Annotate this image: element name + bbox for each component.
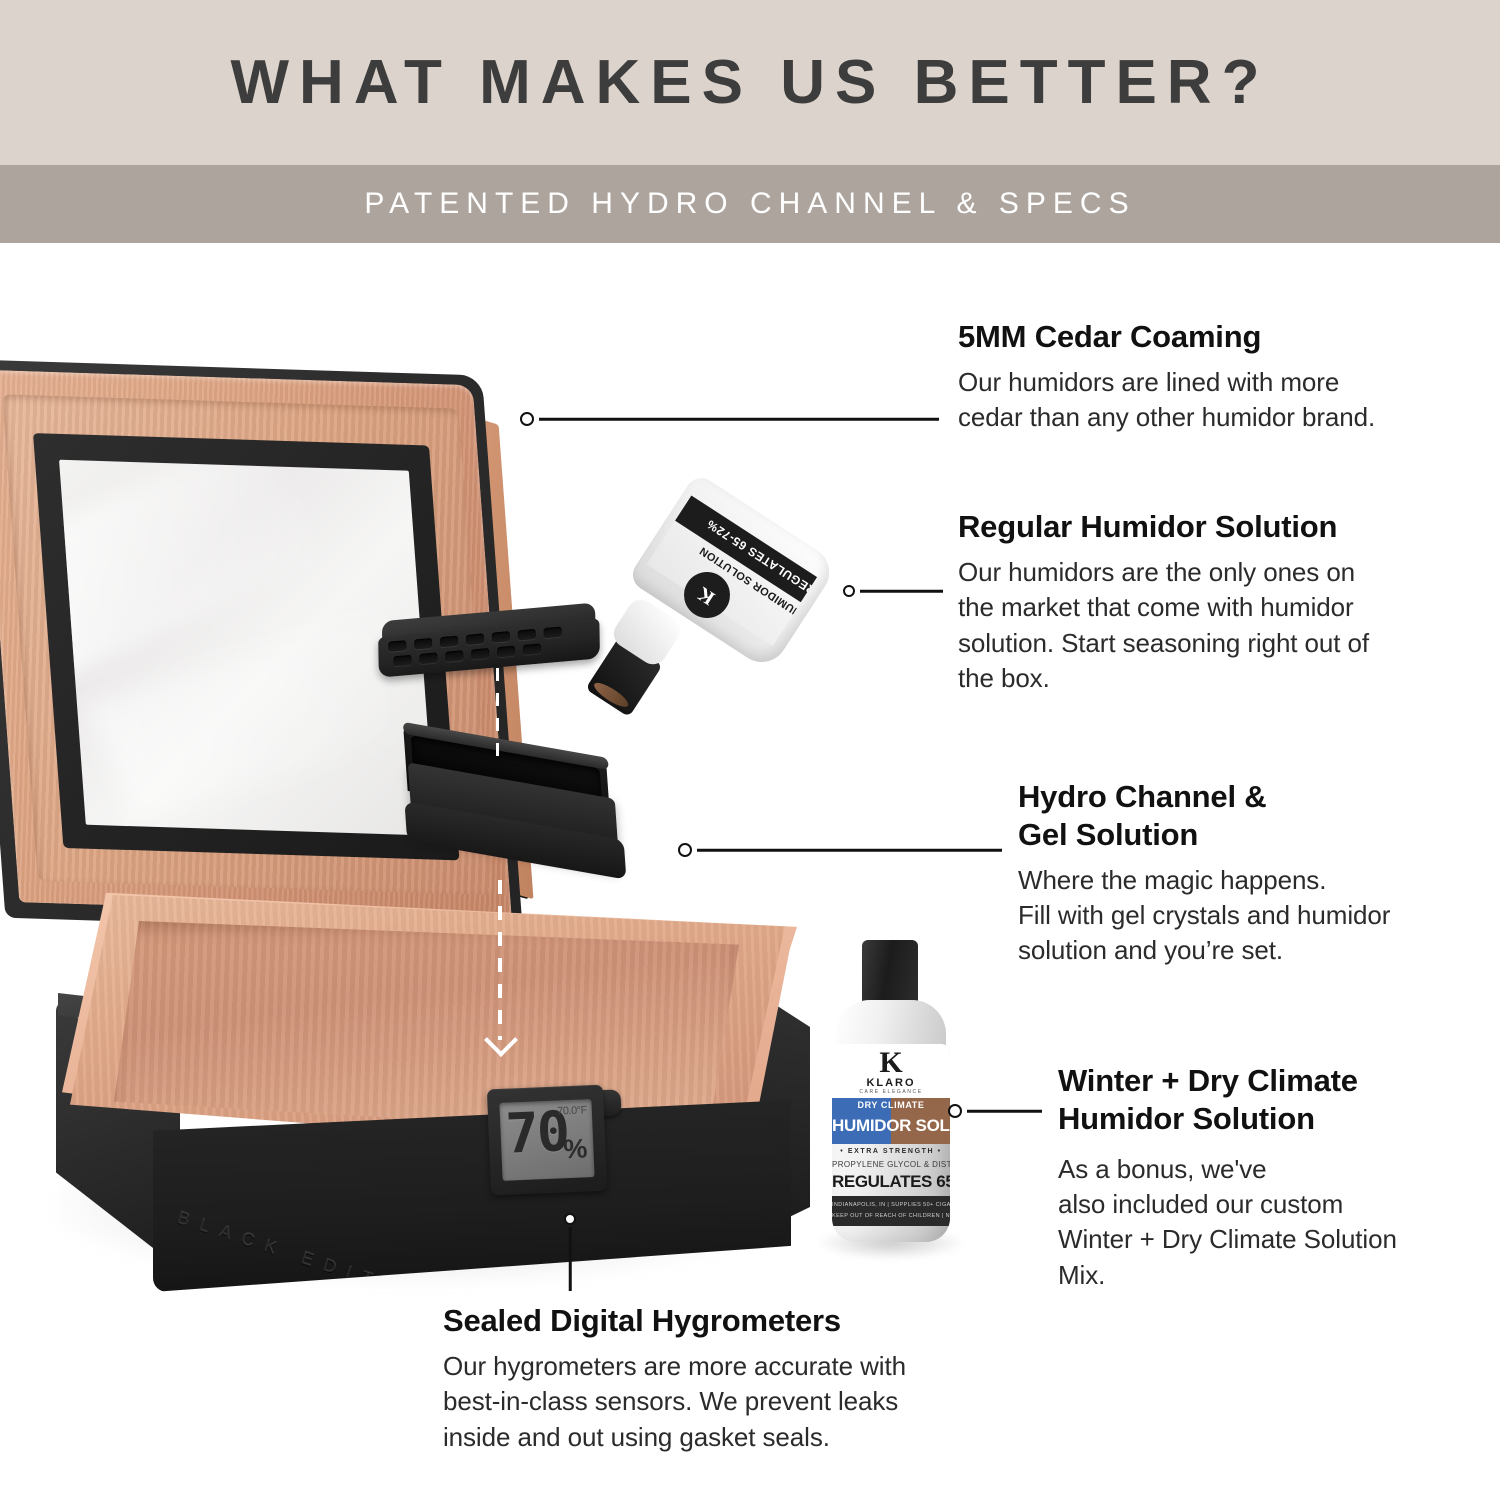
feature-body: Our hygrometers are more accurate with b… bbox=[443, 1349, 1023, 1455]
feature-title-line: Hydro Channel & bbox=[1018, 778, 1488, 816]
regular-humidor-solution-bottle: REGULATES 65-72% HUMIDOR SOLUTION K bbox=[600, 498, 830, 748]
bottle-footer-line2: KEEP OUT OF REACH OF CHILDREN | NOT FOR … bbox=[832, 1213, 950, 1219]
base-cedar-interior bbox=[114, 921, 739, 1136]
feature-block-hydro-channel: Hydro Channel & Gel Solution Where the m… bbox=[1018, 778, 1488, 969]
page-subtitle: PATENTED HYDRO CHANNEL & SPECS bbox=[364, 187, 1135, 221]
feature-block-cedar: 5MM Cedar Coaming Our humidors are lined… bbox=[958, 318, 1478, 436]
feature-body-line: solution and you’re set. bbox=[1018, 933, 1488, 968]
bottle-body: K KLARO CARE ELEGANCE DRY CLIMATE HUMIDO… bbox=[832, 1044, 950, 1242]
connector-line bbox=[539, 418, 939, 421]
feature-block-hygrometers: Sealed Digital Hygrometers Our hygromete… bbox=[443, 1302, 1023, 1455]
bottle-strength-text: • EXTRA STRENGTH • bbox=[832, 1148, 950, 1155]
feature-body-line: As a bonus, we've bbox=[1058, 1152, 1498, 1187]
page-title: WHAT MAKES US BETTER? bbox=[231, 47, 1270, 118]
feature-body: Where the magic happens. Fill with gel c… bbox=[1018, 863, 1488, 969]
connector-dot-icon bbox=[520, 412, 534, 426]
connector-dot-icon bbox=[843, 585, 855, 597]
connector-line bbox=[860, 590, 943, 593]
bottle-ingredients-text: PROPYLENE GLYCOL & DISTILLED WATER bbox=[832, 1160, 950, 1169]
infographic-root: WHAT MAKES US BETTER? PATENTED HYDRO CHA… bbox=[0, 0, 1500, 1500]
digital-hygrometer: 70 70.0°F % bbox=[487, 1085, 607, 1196]
klaro-brand-name: KLARO bbox=[832, 1077, 950, 1089]
feature-title-line: Humidor Solution bbox=[1058, 1100, 1498, 1138]
fill-path-dashes-upper bbox=[496, 668, 499, 768]
bottle-regulates-text: REGULATES 65-72% bbox=[832, 1172, 950, 1192]
klaro-logo-letter: K bbox=[694, 581, 720, 609]
connector-hygrometer bbox=[562, 1213, 578, 1291]
connector-line bbox=[967, 1110, 1042, 1113]
feature-body-line: Mix. bbox=[1058, 1258, 1498, 1293]
fill-direction-arrow-icon bbox=[498, 880, 502, 1040]
feature-body-line: inside and out using gasket seals. bbox=[443, 1420, 1023, 1455]
feature-body: Our humidors are lined with more cedar t… bbox=[958, 365, 1478, 436]
feature-body: Our humidors are the only ones on the ma… bbox=[958, 555, 1478, 696]
connector-dot-icon bbox=[564, 1213, 576, 1225]
feature-title-line: Gel Solution bbox=[1018, 816, 1488, 854]
feature-body-line: the box. bbox=[958, 661, 1478, 696]
header-band-secondary: PATENTED HYDRO CHANNEL & SPECS bbox=[0, 165, 1500, 243]
header-band-primary: WHAT MAKES US BETTER? bbox=[0, 0, 1500, 165]
connector-winter-solution bbox=[948, 1102, 1048, 1120]
feature-body-line: cedar than any other humidor brand. bbox=[958, 400, 1478, 435]
bottle-footer-line1: INDIANAPOLIS, IN | SUPPLIES 50+ CIGARS bbox=[832, 1202, 950, 1208]
connector-hydro-channel bbox=[678, 841, 1008, 859]
feature-block-winter-solution: Winter + Dry Climate Humidor Solution As… bbox=[1058, 1062, 1498, 1293]
base-front-panel: BLACK EDITION bbox=[153, 1100, 791, 1292]
feature-body-line: Our humidors are lined with more bbox=[958, 365, 1478, 400]
feature-body-line: also included our custom bbox=[1058, 1187, 1498, 1222]
klaro-logo-letter: K bbox=[832, 1048, 950, 1078]
klaro-brand-tagline: CARE ELEGANCE bbox=[832, 1089, 950, 1095]
bottle-band-title: HUMIDOR SOLUTION bbox=[832, 1116, 950, 1136]
humidor-base: BLACK EDITION bbox=[48, 895, 808, 1295]
bottle-footer-band bbox=[832, 1196, 950, 1226]
feature-block-regular-solution: Regular Humidor Solution Our humidors ar… bbox=[958, 508, 1478, 696]
feature-body-line: Winter + Dry Climate Solution bbox=[1058, 1222, 1498, 1257]
hydro-channel bbox=[405, 734, 637, 905]
feature-body-line: best-in-class sensors. We prevent leaks bbox=[443, 1384, 1023, 1419]
feature-body-line: Fill with gel crystals and humidor bbox=[1018, 898, 1488, 933]
hygrometer-unit: % bbox=[563, 1133, 588, 1165]
feature-body-line: the market that come with humidor bbox=[958, 590, 1478, 625]
feature-title: Hydro Channel & Gel Solution bbox=[1018, 778, 1488, 854]
connector-cedar bbox=[520, 410, 945, 428]
feature-title-line: Winter + Dry Climate bbox=[1058, 1062, 1498, 1100]
feature-title: Winter + Dry Climate Humidor Solution bbox=[1058, 1062, 1498, 1138]
feature-title: 5MM Cedar Coaming bbox=[958, 318, 1478, 356]
winter-dry-climate-solution-bottle: K KLARO CARE ELEGANCE DRY CLIMATE HUMIDO… bbox=[810, 940, 970, 1250]
feature-title: Sealed Digital Hygrometers bbox=[443, 1302, 1023, 1340]
connector-dot-icon bbox=[948, 1104, 962, 1118]
feature-body: As a bonus, we've also included our cust… bbox=[1058, 1152, 1498, 1293]
bottle-band-subtitle: DRY CLIMATE bbox=[832, 1100, 950, 1110]
feature-body-line: solution. Start seasoning right out of bbox=[958, 626, 1478, 661]
hygrometer-lcd-screen: 70 70.0°F % bbox=[499, 1099, 594, 1181]
connector-dot-icon bbox=[678, 843, 692, 857]
connector-line bbox=[697, 849, 1002, 852]
feature-body-line: Where the magic happens. bbox=[1018, 863, 1488, 898]
feature-body-line: Our hygrometers are more accurate with bbox=[443, 1349, 1023, 1384]
black-edition-emboss: BLACK EDITION bbox=[175, 1207, 448, 1314]
feature-body-line: Our humidors are the only ones on bbox=[958, 555, 1478, 590]
hygrometer-temp-reading: 70.0°F bbox=[557, 1104, 587, 1117]
connector-regular-solution bbox=[843, 582, 953, 600]
feature-title: Regular Humidor Solution bbox=[958, 508, 1478, 546]
connector-line bbox=[569, 1227, 572, 1291]
